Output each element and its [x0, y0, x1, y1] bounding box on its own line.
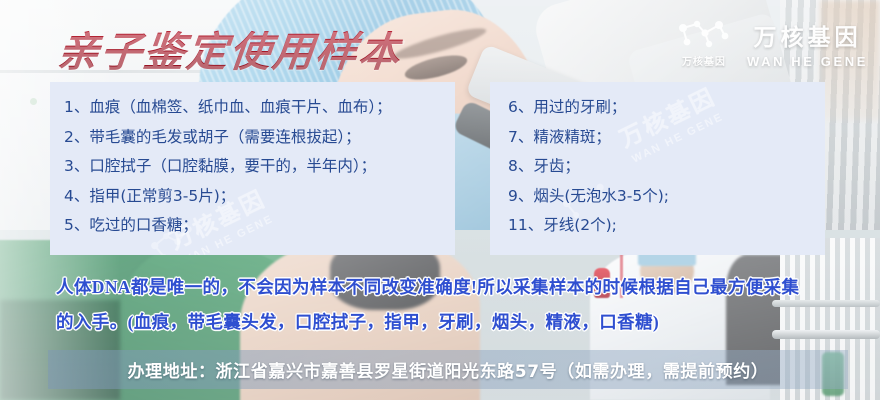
sample-list-left: 1、血痕（血棉签、纸巾血、血痕干片、血布）； 2、带毛囊的毛发或胡子（需要连根拔… [50, 82, 455, 241]
list-item: 3、口腔拭子（口腔黏膜，要干的，半年内）； [64, 152, 455, 182]
description-line-1: 人体DNA都是唯一的，不会因为样本不同改变准确度!所以采集样本的时候根据自己最方… [56, 270, 856, 305]
sample-list-panel-right: 万核基因 WAN HE GENE 6、用过的牙刷； 7、精液精斑； 8、牙齿； … [490, 82, 825, 255]
logo-mark: 万核基因 [675, 20, 733, 68]
brand-logo: 万核基因 万核基因 WAN HE GENE [675, 18, 868, 69]
list-item: 2、带毛囊的毛发或胡子（需要连根拔起）； [64, 123, 455, 153]
logo-mark-label: 万核基因 [682, 53, 726, 68]
logo-name-en: WAN HE GENE [747, 54, 868, 69]
poster-root: 亲子鉴定使用样本 [0, 0, 880, 400]
list-item: 5、吃过的口香糖； [64, 211, 455, 241]
description-paragraph: 人体DNA都是唯一的，不会因为样本不同改变准确度!所以采集样本的时候根据自己最方… [56, 270, 856, 340]
description-line-2: 的入手。(血痕，带毛囊头发，口腔拭子，指甲，牙刷，烟头，精液，口香糖) [56, 305, 856, 340]
logo-name-cn: 万核基因 [753, 18, 861, 52]
list-item: 8、牙齿； [508, 152, 825, 182]
list-item: 4、指甲(正常剪3-5片)； [64, 182, 455, 212]
list-item: 1、血痕（血棉签、纸巾血、血痕干片、血布）； [64, 93, 455, 123]
list-item: 11、牙线(2个); [508, 211, 825, 241]
address-bar: 办理地址：浙江省嘉兴市嘉善县罗星街道阳光东路57号（如需办理，需提前预约） [48, 350, 848, 389]
dna-molecule-icon [675, 20, 733, 50]
sample-list-panel-left: 万核基因 WAN HE GENE 1、血痕（血棉签、纸巾血、血痕干片、血布）； … [50, 82, 455, 255]
page-title: 亲子鉴定使用样本 [55, 18, 405, 78]
sample-list-right: 6、用过的牙刷； 7、精液精斑； 8、牙齿； 9、烟头(无泡水3-5个); 11… [490, 82, 825, 241]
address-text: 办理地址：浙江省嘉兴市嘉善县罗星街道阳光东路57号（如需办理，需提前预约） [128, 357, 769, 382]
list-item: 7、精液精斑； [508, 123, 825, 153]
list-item: 9、烟头(无泡水3-5个); [508, 182, 825, 212]
list-item: 6、用过的牙刷； [508, 93, 825, 123]
logo-wordmark: 万核基因 WAN HE GENE [747, 18, 868, 69]
